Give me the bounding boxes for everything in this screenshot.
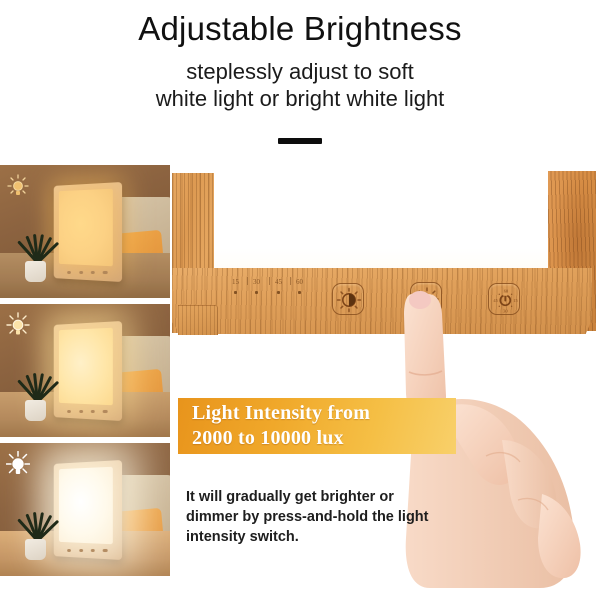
page-subtitle-line2: white light or bright white light [0,85,600,112]
description-paragraph: It will gradually get brighter or dimmer… [186,487,436,547]
list-item [0,304,170,437]
page-subtitle: steplessly adjust to soft white light or… [0,58,600,112]
lamp-frame-notch [178,305,218,335]
plant-pot [25,261,46,282]
bulb-low-icon [6,173,30,199]
list-item [0,443,170,576]
bulb-high-icon [6,451,30,477]
therapy-lamp [51,462,122,558]
timer-tick-label: 30 [253,278,260,286]
lamp-light-panel [59,189,113,266]
page-subtitle-line1: steplessly adjust to soft [0,58,600,85]
potted-plant [17,512,54,560]
fingernail [409,291,431,309]
list-item [0,165,170,298]
timer-tick-label: 45 [275,278,282,286]
timer-tick-label: 15 [232,278,239,286]
header-divider [278,138,322,144]
timer-tick-label: 60 [296,278,303,286]
half-sun-icon [333,284,365,316]
header: Adjustable Brightness steplessly adjust … [0,0,600,160]
plant-pot [25,400,46,421]
potted-plant [17,234,54,282]
plant-pot [25,539,46,560]
light-intensity-banner: Light Intensity from 2000 to 10000 lux [178,398,456,454]
product-feature-image: Adjustable Brightness steplessly adjust … [0,0,600,600]
timer-scale: 15 30 45 60 [232,278,310,302]
bulb-medium-icon [6,312,30,338]
brightness-level-thumbnail-strip [0,165,170,580]
page-title: Adjustable Brightness [0,10,600,48]
lamp-light-panel-closeup [214,165,550,269]
lamp-control-bar [59,268,114,277]
lamp-light-panel [59,467,113,544]
banner-line-1: Light Intensity from [192,401,456,426]
banner-line-2: 2000 to 10000 lux [192,426,456,451]
lamp-light-panel [59,328,113,405]
lamp-control-bar [59,407,114,416]
little-finger [538,494,581,578]
color-temperature-button[interactable] [332,283,364,315]
therapy-lamp [51,323,122,419]
potted-plant [17,373,54,421]
therapy-lamp [51,184,122,280]
lamp-control-bar [59,546,114,555]
